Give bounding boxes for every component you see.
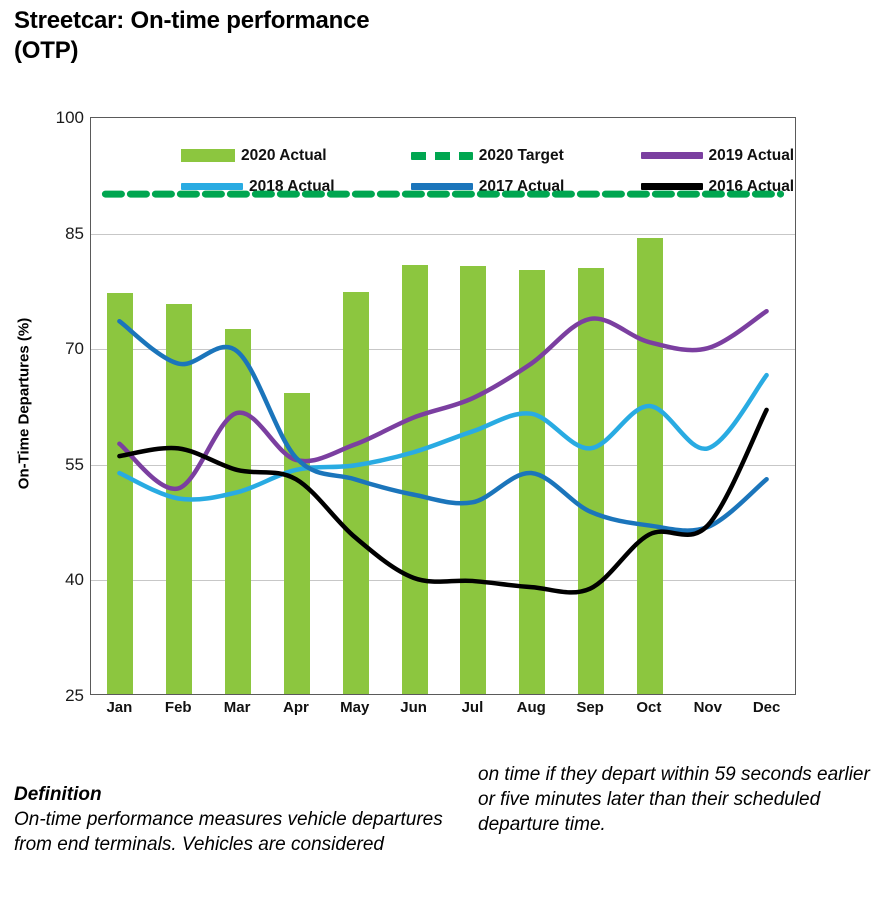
definition-left-text: On-time performance measures vehicle dep…: [14, 807, 454, 857]
line-2017-actual: [119, 321, 766, 530]
y-tick-label: 55: [26, 455, 84, 475]
y-tick-label: 100: [26, 108, 84, 128]
x-tick-label: Apr: [267, 699, 325, 716]
line-series-overlay: [90, 117, 796, 695]
chart-container: On-Time Departures (%) 2540557085100 202…: [12, 105, 812, 725]
x-tick-label: Aug: [502, 699, 560, 716]
definition-left: Definition On-time performance measures …: [14, 782, 454, 857]
x-tick-label: Mar: [208, 699, 266, 716]
x-tick-label: Dec: [738, 699, 796, 716]
x-axis-ticks: JanFebMarAprMayJunJulAugSepOctNovDec: [90, 699, 796, 727]
definition-heading: Definition: [14, 782, 454, 807]
y-tick-label: 40: [26, 570, 84, 590]
x-tick-label: Jul: [443, 699, 501, 716]
definition-right-text: on time if they depart within 59 seconds…: [478, 762, 888, 837]
x-tick-label: May: [326, 699, 384, 716]
y-tick-label: 85: [26, 224, 84, 244]
y-tick-label: 70: [26, 339, 84, 359]
x-tick-label: Jun: [385, 699, 443, 716]
y-axis-ticks: 2540557085100: [12, 117, 84, 695]
x-tick-label: Oct: [620, 699, 678, 716]
x-tick-label: Feb: [149, 699, 207, 716]
page-title: Streetcar: On-time performance (OTP): [14, 6, 434, 66]
x-tick-label: Nov: [679, 699, 737, 716]
y-tick-label: 25: [26, 686, 84, 706]
x-tick-label: Sep: [561, 699, 619, 716]
x-tick-label: Jan: [90, 699, 148, 716]
